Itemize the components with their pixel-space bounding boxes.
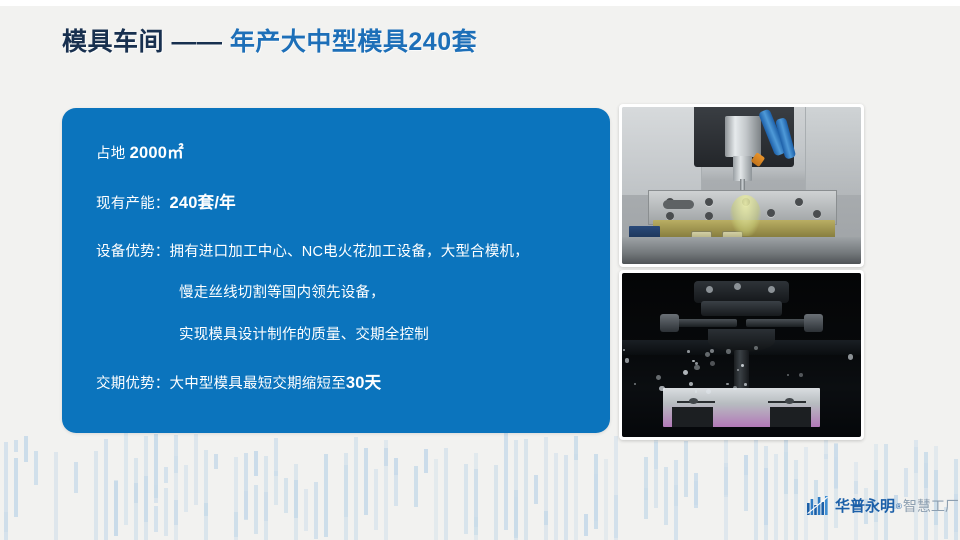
decorative-bar xyxy=(154,485,158,503)
tool-changer-cap-left xyxy=(660,314,679,332)
info-line-equipment-1-text: 设备优势：拥有进口加工中心、NC电火花加工设备，大型合模机， xyxy=(96,244,529,260)
decorative-bar xyxy=(154,506,158,532)
metal-chip xyxy=(754,346,758,350)
metal-chip xyxy=(656,375,661,380)
metal-chip xyxy=(710,361,715,366)
workpiece-hole xyxy=(813,210,821,218)
decorative-bar xyxy=(514,440,518,540)
decorative-bar xyxy=(54,452,58,540)
info-line-capacity-value: 240套/年 xyxy=(170,194,236,212)
decorative-bar xyxy=(434,459,438,540)
metal-chip xyxy=(726,383,729,386)
decorative-bar xyxy=(544,511,548,525)
workpiece-hole xyxy=(795,198,803,206)
decorative-bar xyxy=(344,465,348,517)
decorative-bar xyxy=(534,475,538,505)
photo-cnc-spindle-image xyxy=(622,273,861,437)
top-white-band xyxy=(0,0,960,6)
decorative-bar xyxy=(744,455,748,511)
photo-cnc-machining-center-image xyxy=(622,107,861,264)
decorative-bar xyxy=(324,454,328,537)
workpiece-slot xyxy=(663,200,694,209)
decorative-bar xyxy=(204,450,208,540)
decorative-bar xyxy=(774,454,778,540)
decorative-bar xyxy=(764,468,768,525)
metal-chip xyxy=(848,354,854,360)
decorative-bar xyxy=(4,442,8,540)
metal-chip xyxy=(683,370,688,375)
info-panel-lines: 占地 2000㎡ 现有产能：240套/年 设备优势：拥有进口加工中心、NC电火花… xyxy=(96,134,592,395)
decorative-bar xyxy=(314,482,318,539)
decorative-bar xyxy=(904,468,908,497)
decorative-bar xyxy=(834,457,838,489)
decorative-bar xyxy=(514,490,518,538)
decorative-bar xyxy=(174,456,178,540)
photo-cnc-machining-center xyxy=(619,104,864,267)
metal-chip xyxy=(692,360,695,363)
metal-chip xyxy=(705,352,710,357)
spindle-cone xyxy=(708,329,775,352)
brand-name: 华普永明 xyxy=(835,499,895,514)
metal-chip xyxy=(634,383,636,385)
page-title-blue-segment: 年产大中型模具240套 xyxy=(230,28,477,56)
decorative-bar xyxy=(474,517,478,535)
decorative-bar xyxy=(74,462,78,493)
workpiece-hole xyxy=(767,209,775,217)
decorative-bar xyxy=(94,451,98,540)
decorative-bar xyxy=(414,466,418,507)
coolant-flow xyxy=(730,195,761,236)
machine-enclosure-right xyxy=(805,107,861,195)
decorative-bar xyxy=(544,437,548,540)
machine-table xyxy=(622,237,861,264)
decorative-bar xyxy=(174,500,178,525)
info-line-equipment-3-text: 实现模具设计制作的质量、交期全控制 xyxy=(179,327,429,343)
decorative-bar xyxy=(644,488,648,500)
info-line-equipment-3: 实现模具设计制作的质量、交期全控制 xyxy=(96,325,592,345)
info-line-equipment-1: 设备优势：拥有进口加工中心、NC电火花加工设备，大型合模机， xyxy=(96,242,592,262)
decorative-bar xyxy=(744,455,748,475)
metal-chip xyxy=(687,350,690,353)
decorative-bar xyxy=(244,453,248,518)
decorative-bar xyxy=(24,436,28,463)
decorative-bar xyxy=(764,446,768,540)
decorative-bar xyxy=(114,481,118,536)
info-line-area-unit: ㎡ xyxy=(167,144,184,162)
workpiece-notch xyxy=(672,407,713,427)
decorative-bar xyxy=(644,457,648,520)
decorative-bar xyxy=(854,481,858,495)
decorative-bar xyxy=(664,467,668,525)
photo-cnc-spindle xyxy=(619,270,864,440)
info-line-capacity-prefix: 现有产能： xyxy=(96,196,170,212)
decorative-bar xyxy=(724,467,728,497)
decorative-bar xyxy=(494,465,498,540)
decorative-bar xyxy=(684,441,688,497)
decorative-bar xyxy=(134,458,138,540)
spindle-collar xyxy=(701,301,782,316)
decorative-bar xyxy=(304,489,308,531)
decorative-bar xyxy=(474,469,478,527)
decorative-bar xyxy=(514,497,518,536)
decorative-bar xyxy=(144,436,148,540)
decorative-bar xyxy=(14,440,18,452)
flange-bolt xyxy=(768,286,775,293)
decorative-bar xyxy=(834,444,838,488)
workpiece-hole xyxy=(666,212,674,220)
decorative-bar xyxy=(264,492,268,522)
metal-chip xyxy=(726,349,731,354)
decorative-bar xyxy=(364,448,368,514)
flange-bolt xyxy=(706,286,713,293)
decorative-bar xyxy=(524,439,528,540)
metal-chip xyxy=(744,383,747,386)
info-line-area-value: 2000 xyxy=(130,144,168,162)
decorative-bar xyxy=(654,431,658,507)
info-line-capacity: 现有产能：240套/年 xyxy=(96,192,592,215)
decorative-bar xyxy=(594,474,598,521)
decorative-bar xyxy=(394,473,398,506)
decorative-bar xyxy=(914,440,918,473)
decorative-bar xyxy=(784,434,788,494)
decorative-bar xyxy=(144,476,148,523)
decorative-bar xyxy=(294,464,298,540)
metal-chip xyxy=(787,374,790,377)
decorative-bar xyxy=(614,495,618,537)
metal-chip xyxy=(694,365,700,371)
decorative-bar xyxy=(104,439,108,540)
decorative-bar xyxy=(564,455,568,540)
metal-chip xyxy=(799,373,803,377)
decorative-bar xyxy=(214,454,218,469)
decorative-bar xyxy=(14,458,18,517)
decorative-bar xyxy=(254,451,258,476)
decorative-bar xyxy=(614,436,618,540)
decorative-bar xyxy=(274,471,278,505)
decorative-bar xyxy=(234,512,238,537)
decorative-bar xyxy=(824,440,828,459)
workpiece-hole xyxy=(705,212,713,220)
decorative-bar xyxy=(164,467,168,483)
decorative-bar xyxy=(254,485,258,535)
metal-chip xyxy=(741,364,744,367)
page-title: 模具车间 —— 年产大中型模具240套 xyxy=(62,27,477,57)
decorative-bar xyxy=(754,440,758,540)
decorative-bar xyxy=(354,437,358,540)
decorative-bar xyxy=(424,449,428,473)
tool-changer-cap-right xyxy=(804,314,823,332)
decorative-bar xyxy=(34,451,38,485)
machine-enclosure-left xyxy=(622,107,702,195)
info-panel: 占地 2000㎡ 现有产能：240套/年 设备优势：拥有进口加工中心、NC电火花… xyxy=(62,108,610,433)
decorative-bar xyxy=(884,444,888,540)
decorative-bar xyxy=(694,481,698,505)
decorative-bar xyxy=(184,465,188,511)
decorative-bar xyxy=(384,448,388,465)
decorative-bar xyxy=(924,452,928,488)
info-line-area: 占地 2000㎡ xyxy=(96,142,592,165)
decorative-bar xyxy=(164,488,168,536)
decorative-bar xyxy=(784,452,788,540)
decorative-bar xyxy=(654,442,658,469)
page-title-dark-segment: 模具车间 —— xyxy=(62,28,230,56)
slide-canvas: 模具车间 —— 年产大中型模具240套 占地 2000㎡ 现有产能：240套/年… xyxy=(0,0,960,540)
machine-spindle xyxy=(725,116,761,157)
decorative-bar xyxy=(554,453,558,540)
info-line-leadtime-value: 30天 xyxy=(346,374,381,392)
bar-chart-logo-icon xyxy=(807,496,829,516)
workpiece-hole xyxy=(705,198,713,206)
decorative-bar xyxy=(194,434,198,505)
decorative-bar xyxy=(594,454,598,529)
info-line-leadtime: 交期优势：大中型模具最短交期缩短至30天 xyxy=(96,372,592,395)
decorative-bar xyxy=(344,453,348,540)
metal-chip xyxy=(625,358,630,363)
decorative-bar xyxy=(154,434,158,498)
decorative-bar xyxy=(244,491,248,520)
metal-chip xyxy=(695,390,698,393)
brand-subtitle: 智慧工厂 xyxy=(903,499,959,513)
decorative-bar xyxy=(474,453,478,540)
decorative-bar xyxy=(444,448,448,540)
decorative-bar xyxy=(934,446,938,540)
machine-spindle-nose xyxy=(733,156,752,181)
decorative-bar xyxy=(394,458,398,475)
decorative-bar xyxy=(124,433,128,525)
decorative-bar xyxy=(724,463,728,540)
info-line-area-prefix: 占地 xyxy=(96,146,130,162)
decorative-bar xyxy=(584,514,588,536)
decorative-bar xyxy=(274,438,278,476)
decorative-bar xyxy=(794,479,798,495)
metal-chip xyxy=(689,382,693,386)
decorative-bar xyxy=(284,478,288,513)
decorative-bar xyxy=(384,440,388,540)
brand-logo: 华普永明® 智慧工厂 xyxy=(807,494,959,518)
decorative-bar xyxy=(794,460,798,540)
brand-trademark: ® xyxy=(896,502,902,511)
decorative-bar xyxy=(674,485,678,506)
decorative-bar xyxy=(694,473,698,508)
decorative-bar xyxy=(724,440,728,495)
decorative-bar xyxy=(464,464,468,534)
decorative-bar xyxy=(674,460,678,540)
info-line-leadtime-prefix: 交期优势：大中型模具最短交期缩短至 xyxy=(96,376,346,392)
decorative-bar xyxy=(4,512,8,531)
decorative-bar xyxy=(574,436,578,460)
decorative-bar xyxy=(234,457,238,540)
decorative-bar xyxy=(504,432,508,530)
decorative-bar xyxy=(374,469,378,531)
decorative-bar xyxy=(604,459,608,540)
decorative-bar xyxy=(264,456,268,540)
decorative-bar xyxy=(574,454,578,540)
info-line-equipment-2: 慢走丝线切割等国内领先设备， xyxy=(96,283,592,303)
decorative-bar xyxy=(294,480,298,518)
decorative-bar xyxy=(174,435,178,473)
decorative-bar xyxy=(204,503,208,516)
info-line-equipment-2-text: 慢走丝线切割等国内领先设备， xyxy=(179,285,385,301)
workpiece-notch xyxy=(770,407,811,427)
decorative-bar xyxy=(114,480,118,535)
decorative-bar xyxy=(874,444,878,540)
decorative-bar xyxy=(134,483,138,503)
